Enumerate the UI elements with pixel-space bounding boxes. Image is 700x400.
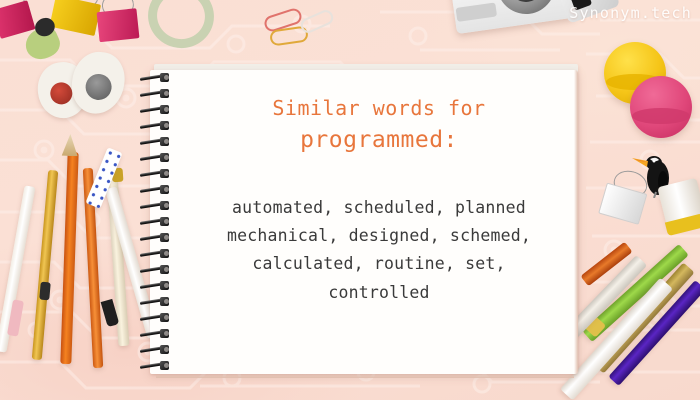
spiral-ring [138, 154, 178, 161]
macaron-shell [630, 76, 692, 138]
page-headword: programmed: [180, 123, 578, 158]
spiral-binding [138, 72, 182, 372]
spiral-ring [138, 282, 178, 289]
spiral-ring [138, 122, 178, 129]
spiral-ring [138, 250, 178, 257]
spiral-ring [138, 202, 178, 209]
spiral-ring [138, 346, 178, 353]
spiral-ring [138, 330, 178, 337]
spiral-ring [138, 106, 178, 113]
synonym-line: calculated, routine, set, [180, 250, 578, 278]
spiral-ring [138, 186, 178, 193]
spiral-ring [138, 234, 178, 241]
spiral-ring [138, 218, 178, 225]
spiral-ring [138, 74, 178, 81]
spiral-ring [138, 138, 178, 145]
avocado-eraser-half [68, 49, 130, 120]
page-content: Similar words for programmed: automated,… [180, 68, 578, 372]
synonym-line: controlled [180, 279, 578, 307]
spiral-ring [138, 170, 178, 177]
synonym-line: mechanical, designed, schemed, [180, 222, 578, 250]
pencil-graphite-ferrule [39, 282, 51, 301]
notebook: Similar words for programmed: automated,… [150, 68, 578, 376]
binder-clip-body [97, 8, 140, 42]
desk-scene: Similar words for programmed: automated,… [0, 0, 700, 400]
notebook-page-bottom-edge [156, 374, 574, 378]
spiral-ring [138, 298, 178, 305]
page-title: Similar words for [180, 94, 578, 123]
synonym-list: automated, scheduled, planned mechanical… [180, 194, 578, 308]
spiral-ring [138, 90, 178, 97]
site-watermark: Synonym.tech [569, 4, 692, 22]
spiral-ring [138, 362, 178, 369]
spiral-ring [138, 266, 178, 273]
synonym-line: automated, scheduled, planned [180, 194, 578, 222]
macaron-pink [630, 76, 692, 138]
binder-clip-pink-2 [96, 2, 144, 48]
spiral-ring [138, 314, 178, 321]
